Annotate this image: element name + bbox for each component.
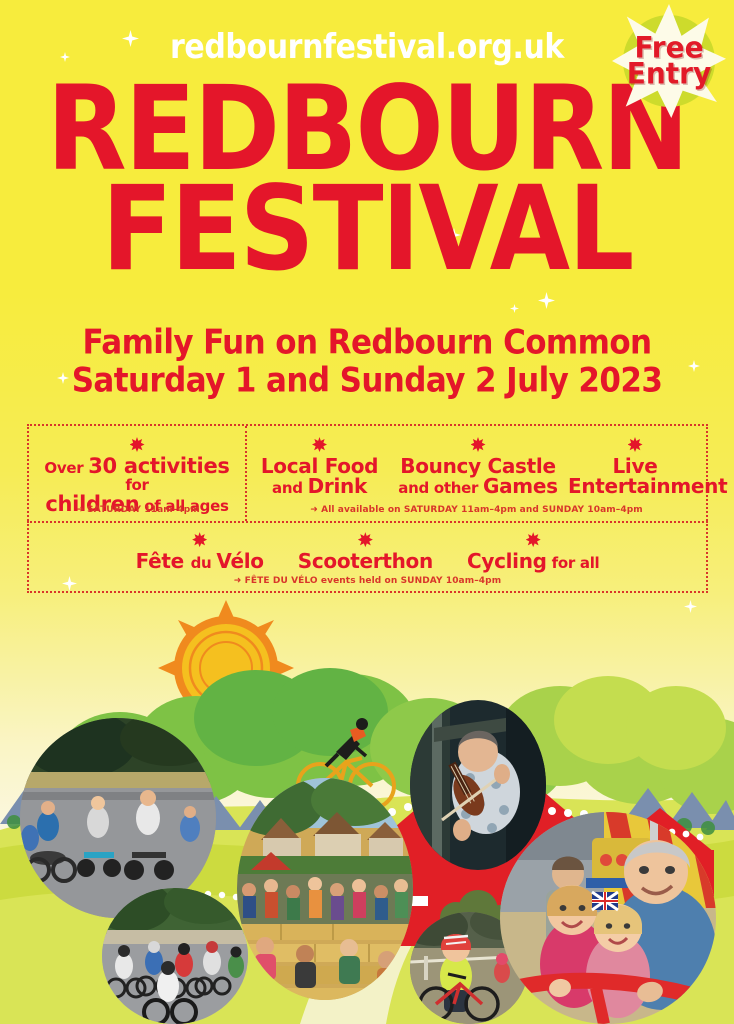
site-url-text[interactable]: redbournfestival.org.uk xyxy=(170,28,564,67)
bouncy-line-1: Bouncy Castle xyxy=(396,456,560,476)
badge-text: Free Entry xyxy=(610,2,728,120)
food-and: and xyxy=(272,479,308,497)
star-icon xyxy=(628,437,643,452)
sparkle-star xyxy=(510,304,519,313)
photo-violinist xyxy=(410,700,546,870)
info-row-2: Fête du Vélo Scooterthon Cycling for all xyxy=(27,521,708,593)
photo-fairground-family xyxy=(500,812,716,1024)
star-icon xyxy=(526,532,541,547)
poster-subtitle: Family Fun on Redbourn Common Saturday 1… xyxy=(0,325,734,401)
subtitle-location: Family Fun on Redbourn Common xyxy=(0,323,734,364)
star-icon xyxy=(192,532,207,547)
live-line-1: Live xyxy=(568,456,702,476)
activities-count: 30 activities xyxy=(88,454,229,478)
fete-velo: Vélo xyxy=(216,549,263,573)
info-cell-scooterthon: Scooterthon xyxy=(298,532,433,571)
note-saturday: ➜ SATURDAY 11am–4pm xyxy=(29,505,247,515)
food-drink: Drink xyxy=(308,474,367,498)
food-line-1: Local Food xyxy=(251,456,388,476)
subtitle-dates: Saturday 1 and Sunday 2 July 2023 xyxy=(0,361,734,402)
star-icon xyxy=(130,437,145,452)
bouncy-and-other: and other xyxy=(398,479,483,497)
fete-big-1: Fête xyxy=(136,549,191,573)
star-icon xyxy=(358,532,373,547)
info-cell-title: Fête du Vélo xyxy=(136,551,264,571)
cycling-label: Cycling xyxy=(467,549,547,573)
info-cell-title: Local Food and Drink xyxy=(251,456,388,497)
info-cell-title: Scooterthon xyxy=(298,551,433,571)
title-line-festival: FESTIVAL xyxy=(0,178,734,280)
star-icon xyxy=(312,437,327,452)
info-panel: Over 30 activities for children of all a… xyxy=(27,424,708,593)
note-all-available: ➜ All available on SATURDAY 11am–4pm and… xyxy=(247,505,706,515)
fete-du: du xyxy=(191,554,217,572)
info-row-1: Over 30 activities for children of all a… xyxy=(27,424,708,521)
bouncy-games: Games xyxy=(483,474,558,498)
info-cell-cycling: Cycling for all xyxy=(467,532,599,571)
star-icon xyxy=(471,437,486,452)
badge-line-2: Entry xyxy=(627,60,712,87)
info-cell-title: Live Entertainment xyxy=(568,456,702,497)
photo-crowd-picnic xyxy=(237,778,413,1000)
scooterthon-label: Scooterthon xyxy=(298,549,433,573)
cycling-forall: for all xyxy=(547,554,600,572)
activities-over: Over xyxy=(44,459,88,477)
info-cell-fete-du-velo: Fête du Vélo xyxy=(136,532,264,571)
free-entry-badge: Free Entry xyxy=(610,2,728,120)
photo-road-cycling-peloton xyxy=(102,888,248,1024)
festival-poster: redbournfestival.org.uk Free Entry REDBO… xyxy=(0,0,734,1024)
info-cell-title: Cycling for all xyxy=(467,551,599,571)
live-entertainment: Entertainment xyxy=(568,476,702,496)
note-fete-du-velo: ➜ FÊTE DU VÉLO events held on SUNDAY 10a… xyxy=(29,576,706,586)
info-cell-title: Bouncy Castle and other Games xyxy=(396,456,560,497)
